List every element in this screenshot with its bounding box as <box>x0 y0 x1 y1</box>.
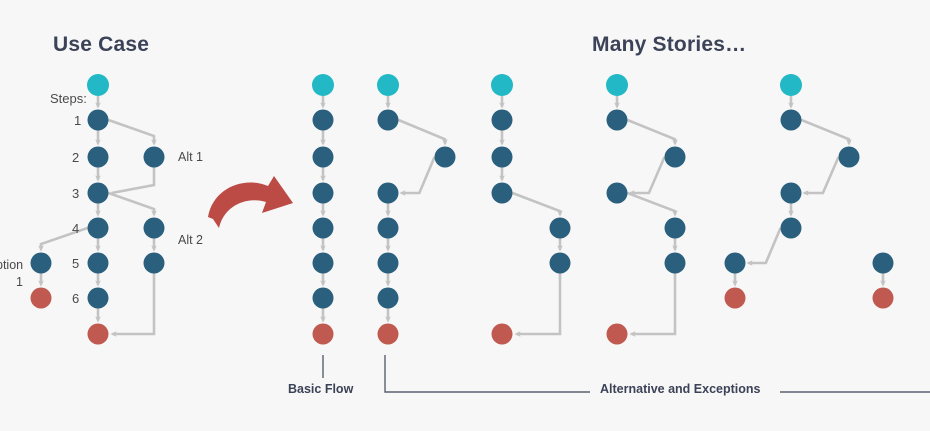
page-title-use-case: Use Case <box>53 33 149 57</box>
page-title-many-stories: Many Stories… <box>592 33 746 57</box>
exception-label-line2: 1 <box>16 275 23 289</box>
alt-bracket-left <box>385 355 590 392</box>
step-number-4: 4 <box>72 221 79 236</box>
step-number-3: 3 <box>72 186 79 201</box>
exception-label-line1: ption <box>0 258 23 272</box>
step-number-2: 2 <box>72 150 79 165</box>
curved-arrow-right-icon <box>208 176 293 228</box>
alt-2-label: Alt 2 <box>178 233 203 247</box>
steps-label: Steps: <box>50 91 87 106</box>
step-number-1: 1 <box>74 113 81 128</box>
step-number-6: 6 <box>72 291 79 306</box>
decoration-layer <box>0 0 930 431</box>
diagram-canvas: Use Case Many Stories… Basic Flow Altern… <box>0 0 930 431</box>
caption-basic-flow: Basic Flow <box>288 382 353 396</box>
step-number-5: 5 <box>72 256 79 271</box>
caption-alternative-and-exceptions: Alternative and Exceptions <box>600 382 760 396</box>
alt-1-label: Alt 1 <box>178 150 203 164</box>
